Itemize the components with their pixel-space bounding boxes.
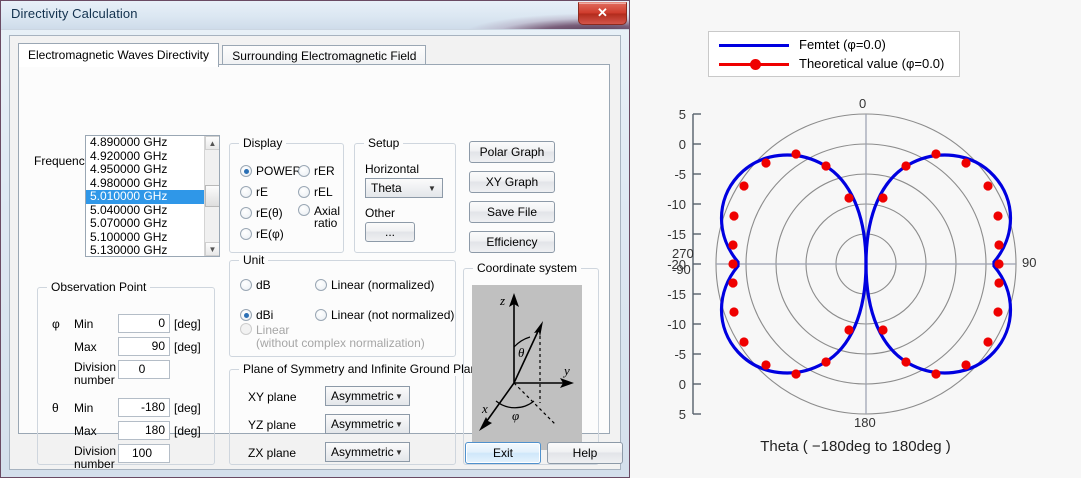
zx-plane-label: ZX plane [248, 446, 296, 460]
phi-min-field[interactable]: 0 [118, 314, 170, 333]
horizontal-select-value: Theta [371, 181, 402, 195]
theta-min-unit: [deg] [174, 401, 201, 415]
scroll-up-icon[interactable]: ▲ [205, 136, 220, 150]
polar-chart-panel: Femtet (φ=0.0) Theoretical value (φ=0.0)… [630, 0, 1081, 478]
display-group: Display POWER rE rE(θ) rE(φ) rER rEL Axi… [229, 143, 344, 253]
exit-button[interactable]: Exit [465, 442, 541, 464]
legend-label: Femtet (φ=0.0) [799, 36, 886, 54]
zx-plane-select[interactable]: Asymmetric▼ [325, 442, 410, 462]
list-item[interactable]: 5.040000 GHz [86, 204, 219, 218]
series-femtet-curve [722, 155, 1011, 373]
division-text: Division [74, 444, 116, 458]
display-group-title: Display [239, 136, 286, 150]
phi-max-field[interactable]: 90 [118, 337, 170, 356]
xy-graph-button[interactable]: XY Graph [469, 171, 555, 193]
radio-re-phi[interactable]: rE(φ) [240, 227, 284, 241]
chevron-down-icon: ▼ [392, 443, 406, 461]
symmetry-group-title: Plane of Symmetry and Infinite Ground Pl… [239, 362, 488, 376]
radio-label: Linear [256, 323, 289, 337]
axis-label-y: y [562, 363, 570, 378]
angular-tick-270: 270 [672, 246, 694, 261]
phi-division-field[interactable]: 0 [118, 360, 170, 379]
radio-label: rE(φ) [256, 227, 284, 241]
efficiency-button[interactable]: Efficiency [469, 231, 555, 253]
observation-point-title: Observation Point [47, 280, 150, 294]
phi-min-label: Min [74, 317, 93, 331]
angle-label-phi: φ [512, 408, 519, 423]
radio-label: Linear (not normalized) [331, 308, 454, 322]
radio-db[interactable]: dB [240, 278, 271, 292]
coordinate-system-diagram: z y x θ φ [472, 285, 582, 450]
yz-plane-select[interactable]: Asymmetric▼ [325, 414, 410, 434]
window-client-area: Electromagnetic Waves Directivity Surrou… [9, 35, 621, 470]
radio-re[interactable]: rE [240, 185, 268, 199]
chevron-down-icon: ▼ [392, 415, 406, 433]
window-title: Directivity Calculation [11, 6, 138, 21]
radio-dot-icon [240, 309, 252, 321]
radio-label: rE(θ) [256, 206, 283, 220]
horizontal-select[interactable]: Theta ▼ [365, 178, 443, 198]
phi-division-label: Divisionnumber [74, 361, 116, 387]
other-browse-button[interactable]: ... [365, 222, 415, 242]
radio-label: POWER [256, 164, 301, 178]
radio-dot-icon [315, 279, 327, 291]
title-bar[interactable]: Directivity Calculation ✕ [1, 1, 629, 30]
radial-tick: 5 [660, 407, 686, 422]
chevron-down-icon: ▼ [392, 387, 406, 405]
frequency-list[interactable]: 4.890000 GHz 4.920000 GHz 4.950000 GHz 4… [85, 135, 220, 257]
chart-legend: Femtet (φ=0.0) Theoretical value (φ=0.0) [708, 31, 960, 77]
theta-symbol: θ [52, 401, 59, 415]
division-text: Division [74, 360, 116, 374]
xy-plane-value: Asymmetric [331, 389, 394, 403]
list-item[interactable]: 4.950000 GHz [86, 163, 219, 177]
theta-division-label: Divisionnumber [74, 445, 116, 471]
tab-panel: Frequency 4.890000 GHz 4.920000 GHz 4.95… [18, 64, 610, 434]
radio-label: dBi [256, 308, 273, 322]
angular-tick-180: 180 [854, 415, 876, 430]
radio-label: rER [314, 164, 335, 178]
number-text: number [74, 373, 115, 387]
radial-axis-ruler [693, 114, 701, 414]
radio-dot-icon [298, 165, 310, 177]
radio-rel[interactable]: rEL [298, 185, 333, 199]
radio-re-theta[interactable]: rE(θ) [240, 206, 283, 220]
legend-line-icon [719, 44, 789, 47]
polar-grid-circles [716, 114, 1016, 414]
legend-label: Theoretical value (φ=0.0) [799, 55, 944, 73]
radio-linear-normalized[interactable]: Linear (normalized) [315, 278, 434, 292]
axis-label-z: z [499, 293, 505, 308]
radio-dot-icon [240, 207, 252, 219]
observation-point-group: Observation Point φ Min 0 [deg] Max 90 [… [37, 287, 215, 465]
radio-dot-icon [240, 165, 252, 177]
radio-dot-icon [240, 323, 252, 335]
legend-marker-icon [750, 59, 761, 70]
radio-dot-icon [298, 186, 310, 198]
axis-label-x: x [481, 401, 488, 416]
angular-tick-0: 0 [859, 96, 866, 111]
unit-group: Unit dB dBi Linear (normalized) Linear (… [229, 260, 456, 357]
theta-max-label: Max [74, 424, 97, 438]
other-label: Other [365, 206, 395, 220]
frequency-scrollbar[interactable]: ▲ ▼ [204, 136, 219, 256]
scroll-down-icon[interactable]: ▼ [205, 242, 220, 256]
coordinate-system-group: Coordinate system [463, 268, 599, 465]
setup-group-title: Setup [364, 136, 403, 150]
save-file-button[interactable]: Save File [469, 201, 555, 223]
xy-plane-select[interactable]: Asymmetric▼ [325, 386, 410, 406]
theta-max-unit: [deg] [174, 424, 201, 438]
yz-plane-label: YZ plane [248, 418, 296, 432]
radial-tick: 5 [660, 107, 686, 122]
scrollbar-thumb[interactable] [205, 185, 220, 207]
zx-plane-value: Asymmetric [331, 445, 394, 459]
radio-rer[interactable]: rER [298, 164, 335, 178]
radio-linear-not-normalized[interactable]: Linear (not normalized) [315, 308, 454, 322]
list-item[interactable]: 5.070000 GHz [86, 217, 219, 231]
radio-axial-ratio[interactable]: Axial ratio [298, 204, 350, 229]
list-item[interactable]: 5.100000 GHz [86, 231, 219, 245]
theta-min-label: Min [74, 401, 93, 415]
chart-xaxis-label: Theta ( −180deg to 180deg ) [630, 438, 1081, 455]
phi-symbol: φ [52, 317, 60, 331]
angular-tick-minus90: -90 [672, 262, 691, 277]
tab-electromagnetic-waves-directivity[interactable]: Electromagnetic Waves Directivity [18, 43, 219, 67]
radial-tick: -15 [660, 287, 686, 302]
radial-tick: -5 [660, 167, 686, 182]
radio-power[interactable]: POWER [240, 164, 301, 178]
radio-dot-icon [240, 186, 252, 198]
radial-tick: -15 [660, 227, 686, 242]
radio-dot-icon [240, 279, 252, 291]
radio-label: rE [256, 185, 268, 199]
list-item-selected[interactable]: 5.010000 GHz [86, 190, 219, 204]
number-text: number [74, 457, 115, 471]
theta-max-field[interactable]: 180 [118, 421, 170, 440]
polar-grid-axes [716, 114, 1016, 414]
coordinate-system-title: Coordinate system [473, 261, 581, 275]
radio-dbi[interactable]: dBi [240, 308, 273, 322]
xy-plane-label: XY plane [248, 390, 297, 404]
tab-strip: Electromagnetic Waves Directivity Surrou… [18, 43, 426, 65]
radio-label: Linear (normalized) [331, 278, 434, 292]
coordinate-axes-svg: z y x θ φ [472, 285, 582, 450]
list-item[interactable]: 4.920000 GHz [86, 150, 219, 164]
radio-sublabel: (without complex normalization) [256, 336, 425, 350]
radial-tick: 0 [660, 137, 686, 152]
setup-group: Setup Horizontal Theta ▼ Other ... [354, 143, 456, 253]
radio-label: dB [256, 278, 271, 292]
theta-division-field[interactable]: 100 [118, 444, 170, 463]
series-theoretical-markers [728, 149, 1003, 378]
frequency-label: Frequency [34, 154, 91, 168]
polar-graph-button[interactable]: Polar Graph [469, 141, 555, 163]
radial-tick: -10 [660, 197, 686, 212]
radial-tick: 0 [660, 377, 686, 392]
phi-max-label: Max [74, 340, 97, 354]
unit-group-title: Unit [239, 253, 268, 267]
radial-tick: -10 [660, 317, 686, 332]
yz-plane-value: Asymmetric [331, 417, 394, 431]
theta-min-field[interactable]: -180 [118, 398, 170, 417]
radio-label: Axial ratio [314, 205, 350, 229]
horizontal-label: Horizontal [365, 162, 419, 176]
radio-dot-icon [298, 204, 310, 216]
list-item[interactable]: 4.890000 GHz [86, 136, 219, 150]
phi-min-unit: [deg] [174, 317, 201, 331]
chevron-down-icon: ▼ [425, 179, 439, 197]
list-item[interactable]: 5.130000 GHz [86, 244, 219, 257]
symmetry-group: Plane of Symmetry and Infinite Ground Pl… [229, 369, 456, 465]
radio-dot-icon [315, 309, 327, 321]
radio-label: rEL [314, 185, 333, 199]
phi-max-unit: [deg] [174, 340, 201, 354]
radio-linear-without-complex-normalization[interactable]: Linear(without complex normalization) [240, 323, 425, 350]
radio-dot-icon [240, 228, 252, 240]
radial-tick: -5 [660, 347, 686, 362]
list-item[interactable]: 4.980000 GHz [86, 177, 219, 191]
angle-label-theta: θ [518, 345, 525, 360]
close-icon[interactable]: ✕ [578, 2, 627, 25]
directivity-calculation-window: Directivity Calculation ✕ Electromagneti… [0, 0, 630, 478]
help-button[interactable]: Help [547, 442, 623, 464]
angular-tick-90: 90 [1022, 255, 1036, 270]
